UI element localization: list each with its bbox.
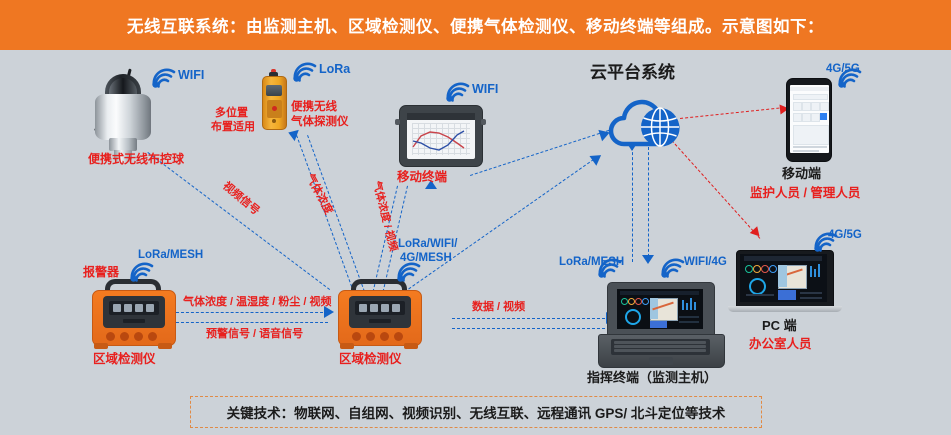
screen-gauge — [753, 265, 761, 273]
detector-knob[interactable] — [120, 332, 129, 341]
screen-map-water — [778, 265, 787, 287]
phone-list-row — [793, 150, 819, 152]
detector-body — [262, 76, 287, 130]
detector-faceplate — [349, 296, 411, 328]
touchpad[interactable] — [649, 357, 673, 365]
gas-detector-radio-label: LoRa — [319, 62, 350, 78]
detector-button[interactable] — [272, 119, 276, 123]
pc-client-radio-label: 4G/5G — [828, 228, 862, 242]
rugged-laptop-base — [598, 334, 725, 368]
phone-tile — [820, 102, 829, 111]
display-cell — [359, 304, 367, 312]
display-cell — [392, 304, 400, 312]
link-left-to-center-down — [176, 322, 328, 323]
link-center-to-command-down — [452, 328, 610, 329]
display-cell — [370, 304, 378, 312]
bottom-banner-text: 关键技术：物联网、自组网、视频识别、无线互联、远程通讯 GPS/ 北斗定位等技术 — [227, 402, 726, 422]
detector-faceplate — [103, 296, 165, 328]
gas-detector-note-line1: 多位置 — [215, 107, 248, 121]
key — [614, 345, 706, 348]
key — [614, 349, 706, 352]
detector-vent — [123, 319, 145, 323]
link-command-to-cloud — [632, 147, 633, 262]
link-cloud-to-mobile-client — [680, 107, 790, 119]
link-cloud-to-pc-client — [671, 140, 760, 239]
node-command-terminal[interactable] — [598, 282, 728, 366]
tablet-screen — [407, 113, 475, 159]
link-tablet-to-cloud — [470, 130, 609, 176]
screen-gauge — [635, 298, 642, 305]
phone-search-box — [793, 94, 828, 100]
area-detector-center-radio-line2: 4G/MESH — [400, 251, 452, 265]
tablet-frame — [399, 105, 483, 167]
phone-tile — [811, 102, 820, 111]
node-cloud-platform[interactable] — [608, 92, 694, 152]
area-detector-left-label: 区域检测仪 — [93, 352, 156, 368]
cloud-platform-title: 云平台系统 — [590, 62, 675, 83]
mobile-terminal-radio-label: WIFI — [472, 82, 498, 98]
camera-body — [95, 94, 151, 140]
display-cell — [146, 304, 154, 312]
link-center-to-command-up — [452, 318, 610, 319]
detector-knob[interactable] — [366, 332, 375, 341]
area-detector-center-radio-line1: LoRa/WIFI/ — [398, 237, 457, 251]
laptop-lid — [736, 250, 834, 308]
screen-bar — [810, 266, 812, 277]
mobile-client-label: 移动端 — [782, 166, 821, 182]
screen-ring — [625, 309, 641, 325]
screen-row — [800, 292, 822, 294]
screen-topbar — [744, 256, 822, 261]
detector-knob[interactable] — [394, 332, 403, 341]
ball-camera-radio-label: WIFI — [178, 68, 204, 84]
screen-row — [800, 297, 822, 299]
link-left-to-center-up — [176, 312, 328, 313]
screen-bar — [814, 269, 816, 277]
phone-tile — [802, 102, 811, 111]
detector-body — [338, 290, 422, 346]
wifi-icon — [659, 258, 685, 278]
screen-bar — [686, 303, 688, 310]
phone-frame — [786, 78, 832, 162]
bottom-banner: 关键技术：物联网、自组网、视频识别、无线互联、远程通讯 GPS/ 北斗定位等技术 — [190, 396, 762, 428]
screen-row — [746, 294, 774, 296]
command-terminal-radio-left: LoRa/MESH — [559, 255, 624, 269]
diagram-canvas: 无线互联系统：由监测主机、区域检测仪、便携气体检测仪、移动终端等组成。示意图如下… — [0, 0, 951, 435]
wifi-icon — [291, 62, 317, 82]
detector-display — [109, 301, 159, 315]
phone-tile — [793, 113, 802, 122]
link-arrowhead — [642, 255, 654, 264]
phone-chart-card — [793, 125, 829, 145]
node-portable-gas-detector[interactable] — [262, 76, 288, 132]
mobile-client-sub-label: 监护人员 / 管理人员 — [750, 186, 860, 202]
link-label-center-to-command: 数据 / 视频 — [472, 301, 525, 315]
phone-tile-active — [820, 113, 827, 120]
detector-screen — [266, 85, 282, 96]
detector-foot — [158, 343, 172, 349]
phone-screen — [790, 85, 829, 153]
link-label-video-signal: 视频信号 — [219, 180, 262, 219]
laptop-base — [728, 306, 842, 312]
command-terminal-label: 指挥终端（监测主机） — [587, 370, 717, 386]
detector-foot — [340, 343, 354, 349]
detector-foot — [404, 343, 418, 349]
screen-topbar — [620, 291, 699, 295]
screen-gauge — [621, 298, 628, 305]
screen-gauge — [628, 298, 635, 305]
node-mobile-terminal[interactable] — [395, 105, 485, 167]
detector-knob[interactable] — [106, 332, 115, 341]
ball-camera-label: 便携式无线布控球 — [88, 152, 184, 167]
detector-button[interactable] — [272, 106, 277, 111]
link-label-left-to-center-down: 预警信号 / 语音信号 — [206, 328, 303, 342]
area-detector-left-radio-label: LoRa/MESH — [138, 248, 203, 262]
rugged-laptop-screen — [617, 289, 703, 329]
tablet-grip — [395, 119, 400, 125]
display-cell — [381, 304, 389, 312]
screen-bar — [690, 298, 692, 310]
screen-gauge — [642, 298, 649, 305]
wifi-icon — [150, 68, 176, 88]
laptop-screen — [740, 254, 827, 302]
phone-tile — [811, 113, 820, 122]
gas-detector-note-line2: 布置适用 — [211, 121, 255, 135]
phone-titlebar — [790, 87, 829, 91]
detector-display — [355, 301, 405, 315]
wifi-icon — [444, 82, 470, 102]
mobile-client-radio-label: 4G/5G — [826, 62, 860, 76]
link-label-left-to-center-up: 气体浓度 / 温湿度 / 粉尘 / 视频 — [183, 296, 332, 310]
alarm-device-label: 报警器 — [83, 265, 119, 280]
detector-knob[interactable] — [380, 332, 389, 341]
tablet-grip — [481, 119, 486, 125]
phone-tile — [793, 102, 802, 111]
node-pc-client[interactable] — [728, 250, 842, 312]
screen-bar — [694, 302, 696, 310]
screen-gauge — [745, 265, 753, 273]
link-arrowhead — [589, 150, 604, 166]
node-area-detector-left[interactable] — [92, 288, 174, 350]
pc-client-label: PC 端 — [762, 318, 797, 334]
phone-tile — [802, 113, 811, 122]
screen-video-tile — [778, 290, 796, 300]
key — [614, 341, 706, 344]
screen-gauge — [761, 265, 769, 273]
detector-knob[interactable] — [148, 332, 157, 341]
area-detector-center-label: 区域检测仪 — [339, 352, 402, 368]
display-cell — [135, 304, 143, 312]
wifi-icon — [128, 262, 154, 282]
screen-bar — [682, 300, 684, 310]
screen-bar — [818, 264, 820, 277]
gas-detector-label-line1: 便携无线 — [291, 100, 337, 114]
gas-detector-label-line2: 气体探测仪 — [291, 115, 349, 129]
link-cloud-to-command — [648, 147, 649, 262]
detector-knob[interactable] — [352, 332, 361, 341]
detector-foot — [94, 343, 108, 349]
detector-body — [92, 290, 176, 346]
rugged-laptop-lid — [607, 282, 715, 336]
rugged-laptop-keyboard[interactable] — [611, 339, 710, 355]
command-terminal-radio-right: WIFI/4G — [684, 255, 727, 269]
screen-row — [679, 321, 699, 323]
tablet-toolbar — [407, 113, 475, 120]
display-cell — [124, 304, 132, 312]
top-banner-text: 无线互联系统：由监测主机、区域检测仪、便携气体检测仪、移动终端等组成。示意图如下… — [127, 13, 824, 37]
detector-knob[interactable] — [134, 332, 143, 341]
link-ball-to-center-detector — [147, 152, 330, 290]
screen-row — [679, 316, 699, 318]
node-area-detector-center[interactable] — [338, 288, 420, 350]
screen-gauge — [769, 265, 777, 273]
display-cell — [113, 304, 121, 312]
phone-list-row — [793, 146, 827, 148]
mobile-terminal-label: 移动终端 — [397, 170, 447, 186]
pc-client-sub-label: 办公室人员 — [749, 337, 812, 353]
node-mobile-client[interactable] — [786, 78, 830, 160]
top-banner: 无线互联系统：由监测主机、区域检测仪、便携气体检测仪、移动终端等组成。示意图如下… — [0, 0, 951, 50]
detector-vent — [369, 319, 391, 323]
screen-video-tile — [650, 321, 667, 328]
screen-ring — [749, 278, 766, 295]
